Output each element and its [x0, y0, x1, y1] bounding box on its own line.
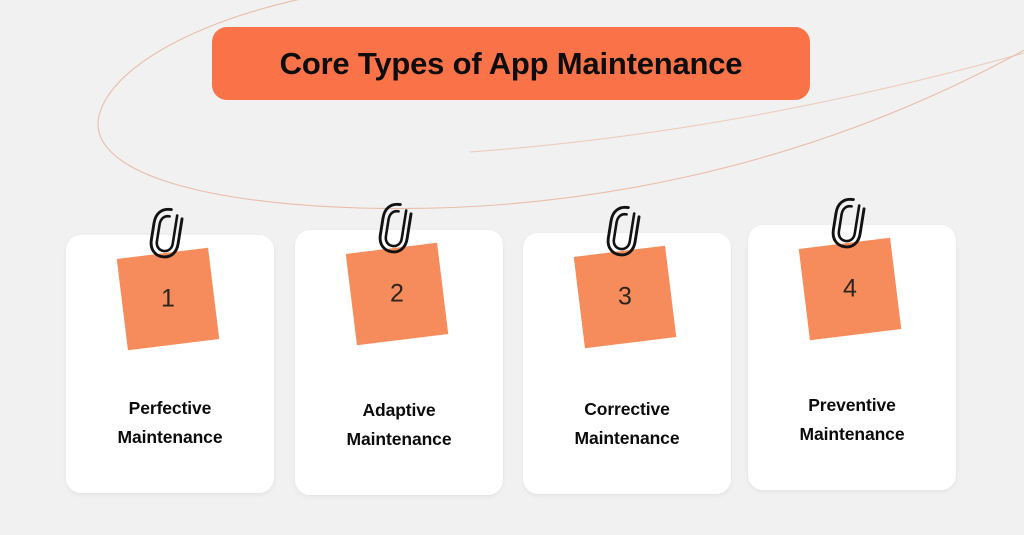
card-label-line-1: Perfective [72, 394, 268, 422]
page-title-banner: Core Types of App Maintenance [212, 27, 810, 100]
card-label: Adaptive Maintenance [301, 396, 497, 453]
card-perfective-maintenance[interactable]: 1 Perfective Maintenance [66, 235, 274, 493]
card-number-tile: 2 [346, 243, 449, 346]
card-label-line-2: Maintenance [72, 423, 268, 451]
maintenance-types-card-row: 1 Perfective Maintenance 2 Adaptive Main… [66, 225, 958, 505]
card-label: Corrective Maintenance [529, 395, 725, 452]
card-corrective-maintenance[interactable]: 3 Corrective Maintenance [523, 233, 731, 494]
card-number-tile: 4 [799, 238, 902, 341]
card-number: 1 [122, 287, 214, 312]
paperclip-icon [146, 205, 192, 263]
card-preventive-maintenance[interactable]: 4 Preventive Maintenance [748, 225, 956, 490]
paperclip-icon [603, 203, 649, 261]
paperclip-icon [375, 200, 421, 258]
card-label-line-1: Corrective [529, 395, 725, 423]
card-number-tile: 1 [117, 248, 220, 351]
card-label: Preventive Maintenance [754, 391, 950, 448]
card-label-line-1: Preventive [754, 391, 950, 419]
page-title: Core Types of App Maintenance [280, 48, 743, 79]
card-label-line-2: Maintenance [301, 425, 497, 453]
paperclip-icon [828, 195, 874, 253]
card-number-tile: 3 [574, 246, 677, 349]
card-number: 3 [579, 285, 671, 310]
card-adaptive-maintenance[interactable]: 2 Adaptive Maintenance [295, 230, 503, 495]
card-label-line-1: Adaptive [301, 396, 497, 424]
card-number: 4 [804, 277, 896, 302]
card-label: Perfective Maintenance [72, 394, 268, 451]
card-number: 2 [351, 282, 443, 307]
card-label-line-2: Maintenance [754, 420, 950, 448]
card-label-line-2: Maintenance [529, 424, 725, 452]
